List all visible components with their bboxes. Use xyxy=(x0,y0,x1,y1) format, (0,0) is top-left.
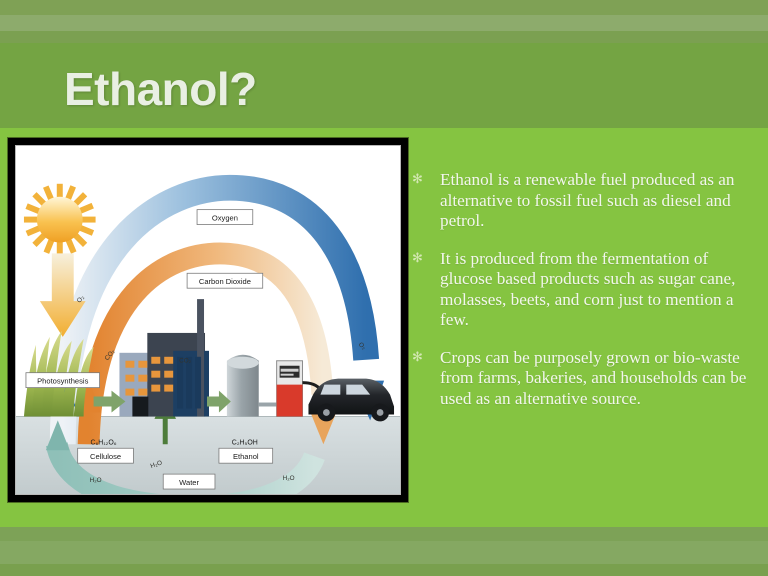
label-water: Water xyxy=(163,474,215,489)
svg-text:Oxygen: Oxygen xyxy=(212,214,238,223)
bottom-band-3 xyxy=(0,564,768,576)
top-band-1 xyxy=(0,0,768,15)
label-photosynthesis: Photosynthesis xyxy=(26,373,100,388)
svg-text:Water: Water xyxy=(179,478,199,487)
svg-text:C₆H₁₂O₆: C₆H₁₂O₆ xyxy=(90,439,116,446)
sun-icon xyxy=(24,184,96,256)
svg-text:CO₂: CO₂ xyxy=(179,358,192,365)
svg-text:Cellulose: Cellulose xyxy=(90,452,121,461)
list-item: ✻ Ethanol is a renewable fuel produced a… xyxy=(408,170,756,232)
diagram-frame-inner: Oxygen Carbon Dioxide Photosynthesis C₆H… xyxy=(15,145,401,495)
svg-text:C₂H₅OH: C₂H₅OH xyxy=(232,439,258,446)
bullet-text: Crops can be purposely grown or bio-wast… xyxy=(440,348,756,410)
diagram-frame: Oxygen Carbon Dioxide Photosynthesis C₆H… xyxy=(8,138,408,502)
bottom-band-2 xyxy=(0,541,768,564)
slide-root: Ethanol? xyxy=(0,0,768,576)
label-oxygen: Oxygen xyxy=(197,210,253,225)
svg-text:H₂O: H₂O xyxy=(90,477,102,484)
svg-text:Ethanol: Ethanol xyxy=(233,452,259,461)
list-item: ✻ Crops can be purposely grown or bio-wa… xyxy=(408,348,756,410)
bottom-band-1 xyxy=(0,527,768,541)
gear-bullet-icon: ✻ xyxy=(408,170,440,190)
ethanol-cycle-diagram: Oxygen Carbon Dioxide Photosynthesis C₆H… xyxy=(16,146,400,494)
top-band-3 xyxy=(0,31,768,43)
page-title: Ethanol? xyxy=(64,66,257,112)
list-item: ✻ It is produced from the fermentation o… xyxy=(408,249,756,331)
bullet-text: It is produced from the fermentation of … xyxy=(440,249,756,331)
bullet-text: Ethanol is a renewable fuel produced as … xyxy=(440,170,756,232)
label-carbon-dioxide: Carbon Dioxide xyxy=(187,273,263,288)
svg-text:Photosynthesis: Photosynthesis xyxy=(37,377,88,386)
top-band-2 xyxy=(0,15,768,31)
svg-text:H₂O: H₂O xyxy=(283,475,295,482)
gear-bullet-icon: ✻ xyxy=(408,348,440,368)
svg-text:Carbon Dioxide: Carbon Dioxide xyxy=(199,277,251,286)
bullet-list: ✻ Ethanol is a renewable fuel produced a… xyxy=(408,170,756,426)
gear-bullet-icon: ✻ xyxy=(408,249,440,269)
